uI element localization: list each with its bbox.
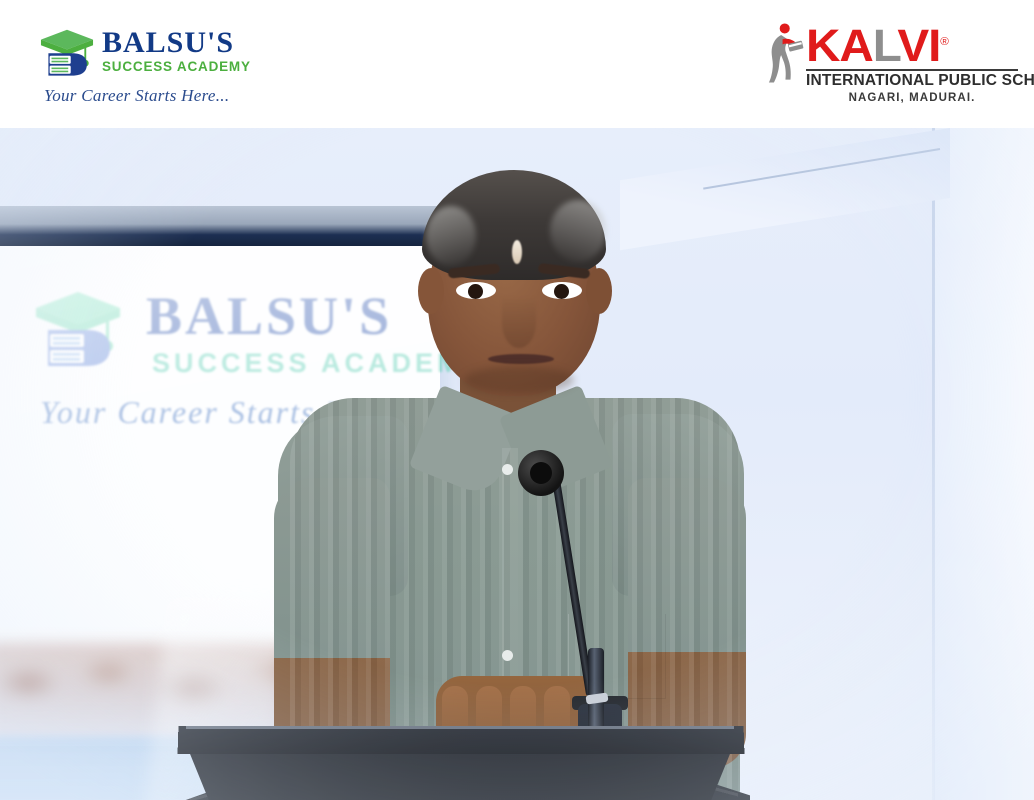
wall-right bbox=[934, 128, 1034, 800]
speaker-chin-shadow bbox=[464, 366, 574, 394]
kalvi-wordmark-part1: KA bbox=[806, 20, 873, 71]
speaker-at-podium bbox=[250, 148, 770, 800]
registered-trademark-icon: ® bbox=[940, 36, 948, 48]
kalvi-school-location: NAGARI, MADURAI. bbox=[806, 92, 1018, 104]
shirt-button-top bbox=[502, 464, 513, 475]
microphone-windscreen bbox=[530, 462, 552, 484]
graduation-cap-book-b-logo-icon bbox=[36, 26, 98, 88]
kalvi-wordmark: KALVI® bbox=[806, 18, 948, 66]
wall-corner-edge bbox=[932, 128, 935, 800]
balsu-success-academy-logo: BALSU'S SUCCESS ACADEMY Your Career Star… bbox=[36, 24, 276, 106]
speaker-mouth bbox=[488, 354, 554, 364]
speaker-nose bbox=[502, 298, 536, 348]
kalvi-international-public-school-logo: KALVI® INTERNATIONAL PUBLIC SCHOOL NAGAR… bbox=[762, 18, 1018, 110]
speaker-hair-gray-right bbox=[550, 200, 606, 262]
speaker-pupil-right bbox=[554, 284, 569, 299]
speaker-pupil-left bbox=[468, 284, 483, 299]
speaker-hair-gray-left bbox=[426, 206, 476, 266]
balsu-logo-name: BALSU'S bbox=[102, 28, 282, 58]
balsu-logo-subtitle: SUCCESS ACADEMY bbox=[102, 59, 282, 75]
speaker-ear-right bbox=[586, 268, 612, 314]
lectern-top-highlight bbox=[186, 726, 734, 729]
header-band: BALSU'S SUCCESS ACADEMY Your Career Star… bbox=[0, 0, 1034, 128]
kalvi-divider bbox=[806, 69, 1018, 71]
speaker-ear-left bbox=[418, 268, 444, 314]
event-photo-banner: BALSU'S SUCCESS ACADEMY Your Career Star… bbox=[0, 0, 1034, 800]
forehead-tilak-icon bbox=[512, 240, 522, 264]
kalvi-wordmark-part2: L bbox=[873, 20, 898, 71]
shirt-button-lower bbox=[502, 650, 513, 661]
balsu-logo-text: BALSU'S SUCCESS ACADEMY bbox=[102, 28, 282, 75]
running-student-with-book-icon bbox=[762, 22, 806, 84]
kalvi-school-type: INTERNATIONAL PUBLIC SCHOOL bbox=[806, 72, 1018, 90]
event-photograph: BALSU'S SUCCESS ACADEMY Your Career Star… bbox=[0, 128, 1034, 800]
speaker-eye-left bbox=[456, 282, 496, 299]
lectern-top-surface bbox=[178, 726, 745, 754]
kalvi-wordmark-part3: VI bbox=[897, 20, 940, 71]
speaker-eye-right bbox=[542, 282, 582, 299]
balsu-logo-tagline: Your Career Starts Here... bbox=[44, 86, 284, 106]
